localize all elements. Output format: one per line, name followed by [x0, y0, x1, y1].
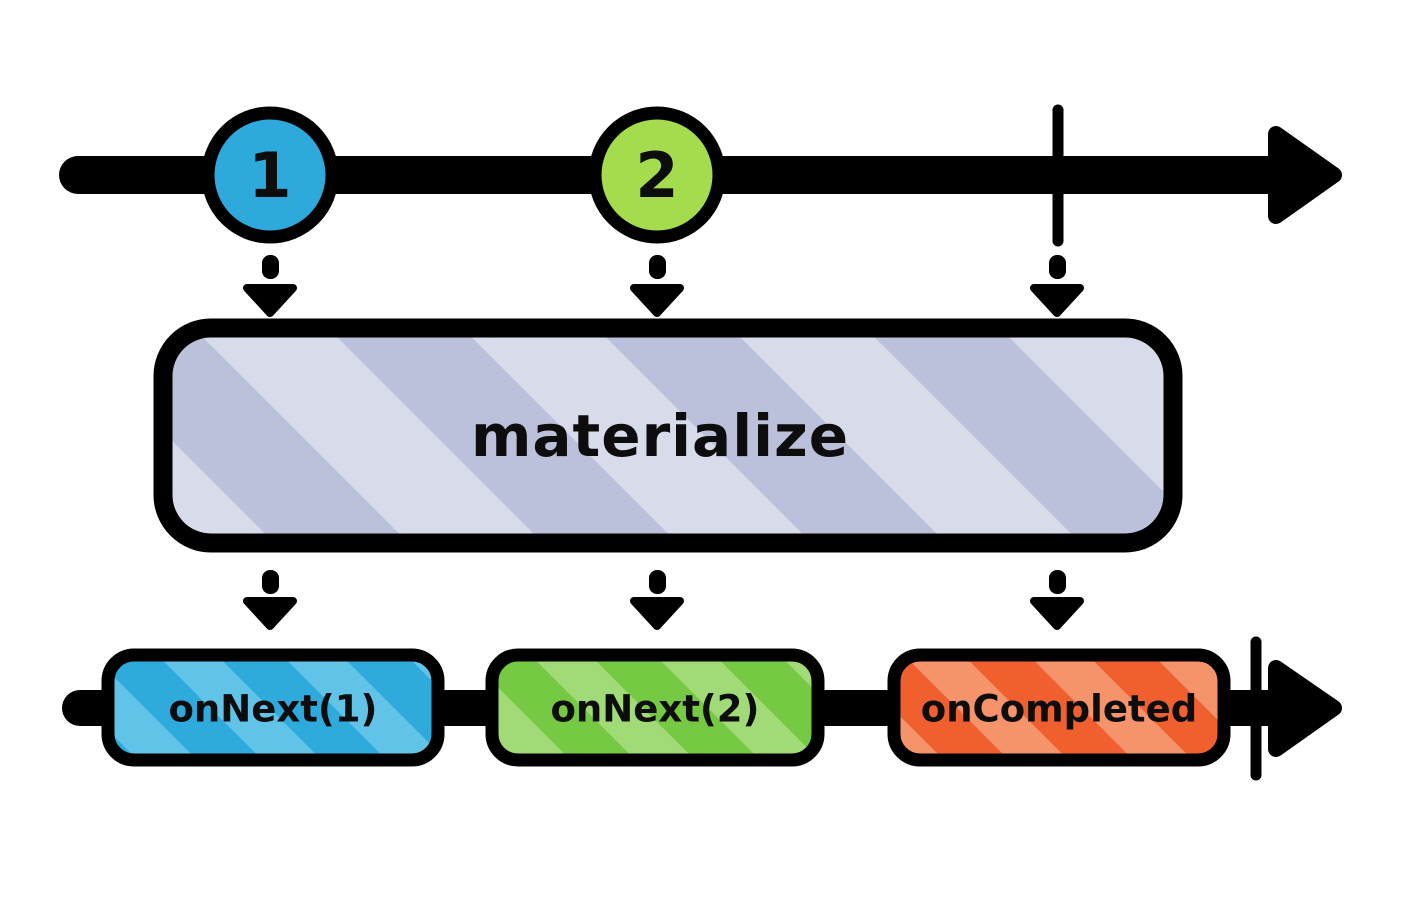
- dashed-arrow-down-icon: [247, 255, 293, 313]
- result-notification-oncompleted[interactable]: onCompleted: [894, 655, 1224, 760]
- operator-box[interactable]: materialize: [163, 328, 1173, 543]
- connectors-into-operator: [247, 255, 1080, 313]
- source-timeline-arrowhead: [1276, 134, 1334, 216]
- dashed-arrow-down-icon: [634, 570, 680, 626]
- result-notification-onnext-2[interactable]: onNext(2): [492, 655, 818, 760]
- result-notification-onnext-2-label: onNext(2): [551, 688, 760, 731]
- source-marble-1[interactable]: 1: [208, 113, 332, 237]
- result-notification-onnext-1-label: onNext(1): [169, 688, 378, 731]
- dashed-arrow-down-icon: [1034, 570, 1080, 626]
- dashed-arrow-down-icon: [247, 570, 293, 626]
- connectors-out-of-operator: [247, 570, 1080, 626]
- source-marble-2[interactable]: 2: [595, 113, 719, 237]
- source-marble-2-label: 2: [635, 139, 678, 212]
- dashed-arrow-down-icon: [634, 255, 680, 313]
- result-notification-oncompleted-label: onCompleted: [921, 688, 1197, 731]
- result-timeline: onNext(1) onNext(2) onCompleted: [80, 642, 1334, 775]
- result-timeline-arrowhead: [1276, 668, 1334, 749]
- source-timeline: 1 2: [78, 110, 1334, 241]
- operator-label: materialize: [471, 402, 849, 470]
- diagram-svg: 1 2: [0, 0, 1401, 901]
- dashed-arrow-down-icon: [1034, 255, 1080, 313]
- result-notification-onnext-1[interactable]: onNext(1): [108, 655, 438, 760]
- marble-diagram-canvas: 1 2: [0, 0, 1401, 901]
- source-marble-1-label: 1: [248, 139, 291, 212]
